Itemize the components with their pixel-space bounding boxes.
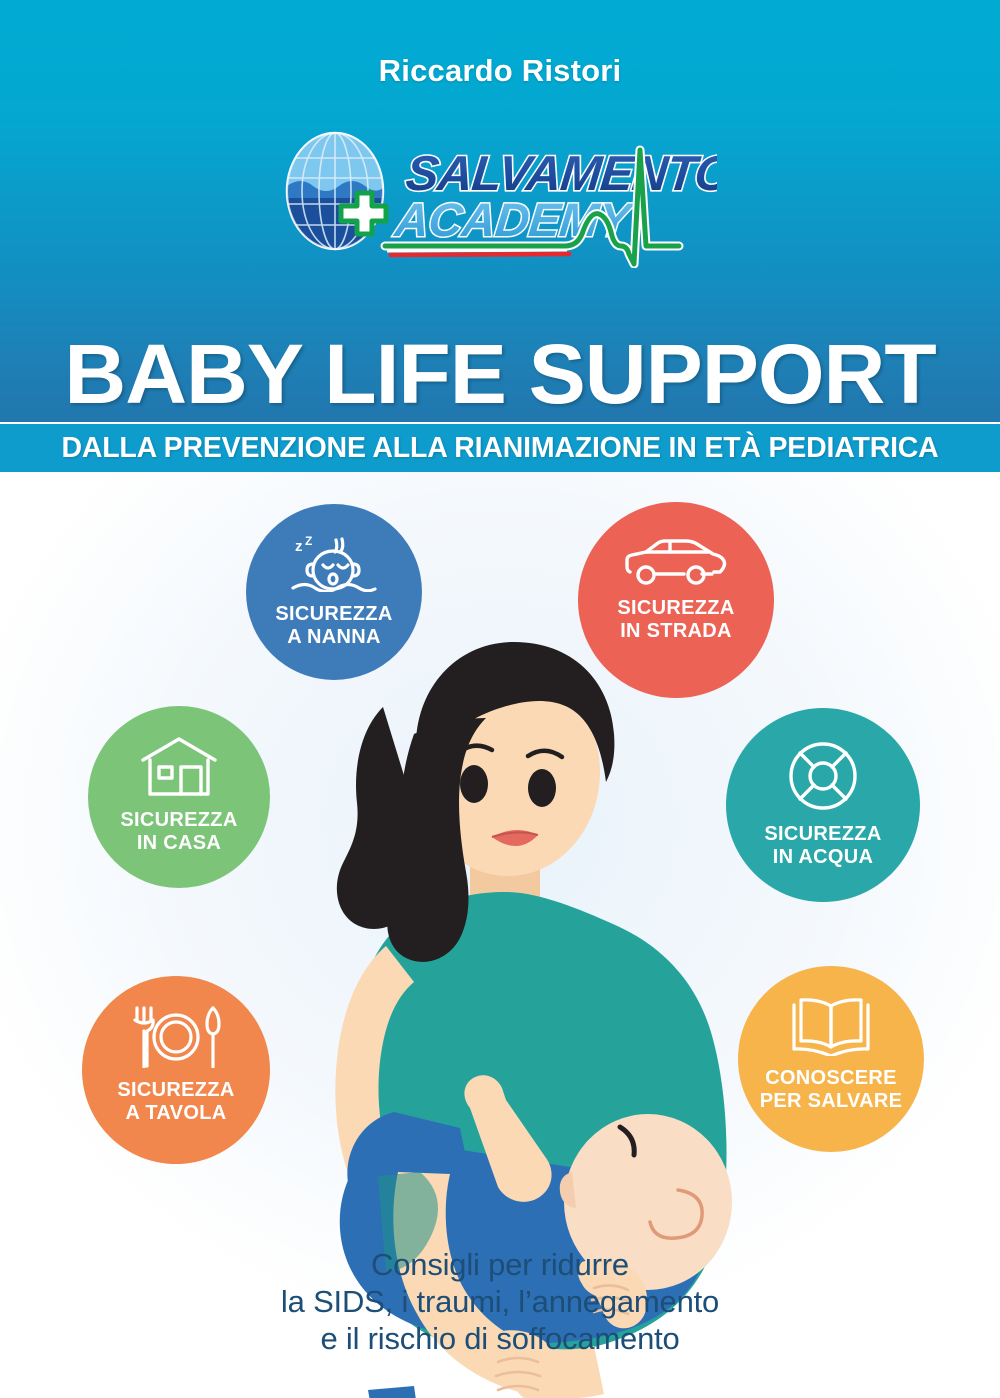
badge-sicurezza-in-casa[interactable]: SICUREZZA IN CASA [88, 706, 270, 888]
page-subtitle: DALLA PREVENZIONE ALLA RIANIMAZIONE IN E… [0, 429, 1000, 467]
open-book-icon [790, 996, 872, 1061]
mother-eye-right [528, 769, 556, 807]
cutlery-plate-icon [129, 1006, 223, 1073]
badge-sicurezza-in-acqua[interactable]: SICUREZZA IN ACQUA [726, 708, 920, 902]
svg-text:Z: Z [305, 534, 312, 548]
svg-text:z: z [295, 538, 303, 555]
badge-label: SICUREZZA A NANNA [275, 603, 392, 649]
lifebuoy-icon [787, 740, 859, 817]
badge-label: SICUREZZA IN STRADA [617, 597, 734, 643]
page-title: BABY LIFE SUPPORT [0, 332, 1000, 416]
sleeping-baby-icon: z Z [289, 534, 379, 597]
svg-text:ACADEMY: ACADEMY [392, 193, 637, 246]
salvamento-academy-logo: SALVAMENTO ACADEMY [277, 128, 717, 268]
badge-label: SICUREZZA A TAVOLA [117, 1079, 234, 1125]
car-icon [624, 536, 728, 591]
globe-cross-icon [285, 133, 386, 253]
author-name: Riccardo Ristori [0, 53, 1000, 89]
logo-wordmark-academy: ACADEMY [392, 193, 637, 246]
house-icon [139, 736, 219, 803]
badge-label: SICUREZZA IN CASA [120, 809, 237, 855]
badge-sicurezza-a-nanna[interactable]: z Z SICUREZZA A NANNA [246, 504, 422, 680]
cover-tagline: Consigli per ridurre la SIDS, i traumi, … [0, 1246, 1000, 1357]
book-cover: Riccardo Ristori [0, 0, 1000, 1398]
badge-sicurezza-a-tavola[interactable]: SICUREZZA A TAVOLA [82, 976, 270, 1164]
badge-label: CONOSCERE PER SALVARE [760, 1067, 903, 1113]
mother-eye-left [460, 765, 488, 803]
badge-sicurezza-in-strada[interactable]: SICUREZZA IN STRADA [578, 502, 774, 698]
badge-label: SICUREZZA IN ACQUA [764, 823, 881, 869]
badge-conoscere-per-salvare[interactable]: CONOSCERE PER SALVARE [738, 966, 924, 1152]
